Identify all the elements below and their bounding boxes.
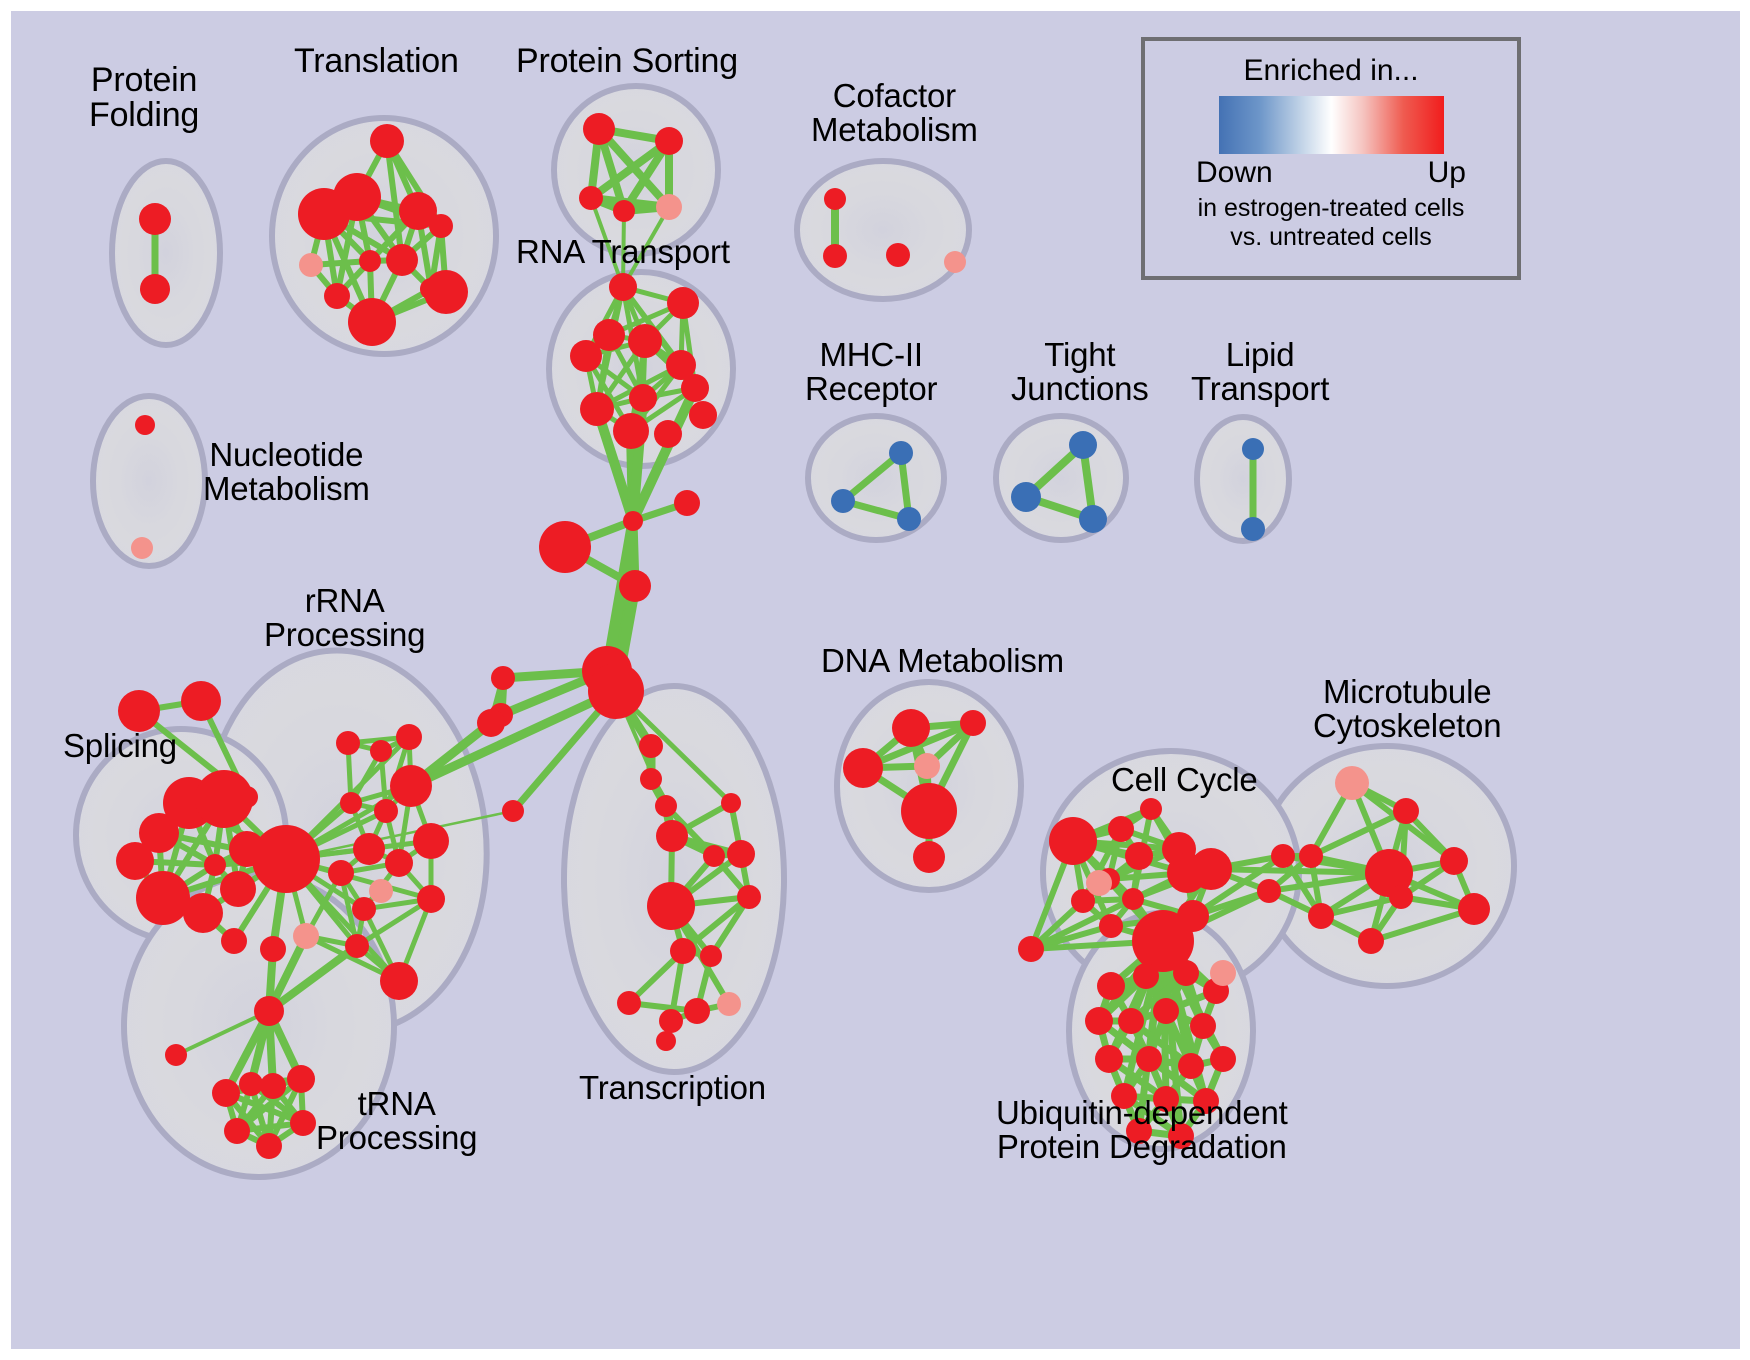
cluster-label-transcription: Transcription (579, 1071, 766, 1105)
legend-panel: Enriched in... Down Up in estrogen-treat… (1141, 37, 1521, 280)
cluster-label-cofactor-metabolism: Cofactor Metabolism (811, 79, 978, 148)
cluster-label-translation: Translation (294, 44, 459, 79)
cluster-label-protein-folding: Protein Folding (89, 63, 199, 134)
figure-root: Protein Folding Translation Protein Sort… (0, 0, 1750, 1360)
hull-protein-folding (112, 161, 220, 345)
legend-high-label: Up (1428, 156, 1466, 190)
network-canvas: Protein Folding Translation Protein Sort… (11, 11, 1740, 1349)
cluster-label-dna-metabolism: DNA Metabolism (821, 644, 1064, 678)
legend-low-label: Down (1196, 156, 1273, 190)
legend-endpoints: Down Up (1196, 156, 1466, 190)
legend-title: Enriched in... (1145, 54, 1517, 88)
cluster-label-nucleotide-metabolism: Nucleotide Metabolism (203, 438, 370, 507)
cluster-label-cell-cycle: Cell Cycle (1111, 763, 1258, 797)
cluster-label-rna-transport: RNA Transport (516, 235, 730, 269)
legend-caption-line1: in estrogen-treated cells (1145, 194, 1517, 223)
cluster-label-mhc-ii-receptor: MHC-II Receptor (805, 338, 937, 407)
cluster-label-protein-sorting: Protein Sorting (516, 44, 738, 79)
legend-caption-line2: vs. untreated cells (1145, 223, 1517, 252)
cluster-label-lipid-transport: Lipid Transport (1191, 338, 1329, 407)
legend-color-gradient (1219, 96, 1444, 154)
cluster-label-splicing: Splicing (63, 729, 177, 763)
cluster-label-microtubule-cytoskeleton: Microtubule Cytoskeleton (1313, 675, 1501, 744)
hull-cofactor (797, 161, 969, 299)
cluster-label-trna-processing: tRNA Processing (316, 1087, 477, 1156)
cluster-label-ubiquitin-protein-degradation: Ubiquitin-dependent Protein Degradation (996, 1096, 1288, 1165)
cluster-label-rrna-processing: rRNA Processing (264, 584, 425, 653)
cluster-label-tight-junctions: Tight Junctions (1011, 338, 1149, 407)
